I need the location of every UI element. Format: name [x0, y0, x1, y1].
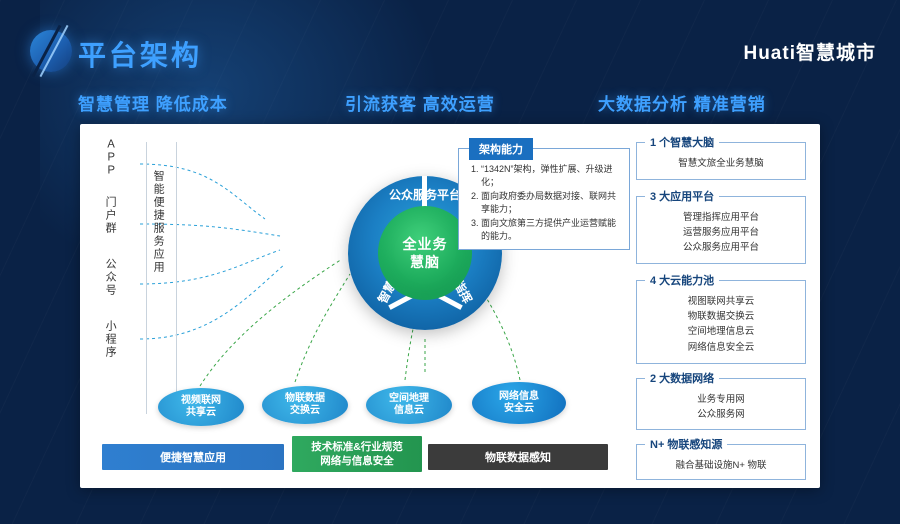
bottom-bar-standards-line1: 技术标准&行业规范 — [311, 440, 403, 454]
architecture-capability-box: 架构能力 “1342N”架构，弹性扩展、升级进化； 面向政府委办局数据对接、联网… — [458, 148, 630, 250]
right-box-sensing-line1: 融合基础设施N+ 物联 — [643, 458, 799, 473]
slide-background: 平台架构 Huati智慧城市 智慧管理 降低成本 引流获客 高效运营 大数据分析… — [0, 0, 900, 524]
right-box-clouds-title: 4 大云能力池 — [645, 272, 719, 288]
slogan-3: 大数据分析 精准营销 — [598, 90, 766, 115]
cloud-node-network-security-line2: 安全云 — [499, 403, 539, 416]
smart-service-app-label: 智能便捷服务应用 — [152, 170, 164, 274]
architecture-capability-title: 架构能力 — [469, 138, 533, 160]
architecture-card: ＡＰＰ 门户群 公众号 小程序 智能便捷服务应用 公众服务平台 智慧运营服务 智… — [80, 124, 820, 488]
right-box-platforms-line1: 管理指挥应用平台 — [643, 210, 799, 225]
brand-name-en: Huati — [743, 43, 796, 64]
slogan-1: 智慧管理 降低成本 — [78, 90, 228, 115]
right-box-networks-line1: 业务专用网 — [643, 392, 799, 407]
cloud-node-iot-data: 物联数据 交换云 — [262, 386, 348, 424]
channel-app-label: ＡＰＰ — [104, 138, 116, 177]
right-box-platforms-line2: 运营服务应用平台 — [643, 225, 799, 240]
cloud-node-video-line2: 共享云 — [181, 407, 221, 420]
divider-right — [176, 142, 177, 414]
core-label-line2: 慧脑 — [410, 253, 440, 271]
right-box-brain-title: 1 个智慧大脑 — [645, 134, 719, 150]
right-box-clouds-line1: 视图联网共享云 — [643, 294, 799, 309]
right-box-sensing: N+ 物联感知源 融合基础设施N+ 物联 — [636, 444, 806, 480]
architecture-capability-item-1: “1342N”架构，弹性扩展、升级进化； — [481, 163, 621, 189]
cloud-node-video: 视频联网 共享云 — [158, 388, 244, 426]
bottom-bar-standards: 技术标准&行业规范 网络与信息安全 — [292, 436, 422, 472]
left-channel-column: ＡＰＰ 门户群 公众号 小程序 — [88, 134, 144, 454]
page-title: 平台架构 — [78, 34, 202, 74]
slogan-2: 引流获客 高效运营 — [345, 90, 495, 115]
right-box-networks-line2: 公众服务网 — [643, 407, 799, 422]
divider-left — [146, 142, 147, 414]
cloud-node-geo-info-line2: 信息云 — [389, 405, 429, 418]
cloud-node-geo-info: 空间地理 信息云 — [366, 386, 452, 424]
architecture-capability-item-2: 面向政府委办局数据对接、联网共享能力； — [481, 190, 621, 216]
core-label-line1: 全业务 — [403, 235, 448, 253]
right-box-clouds-line2: 物联数据交换云 — [643, 309, 799, 324]
right-box-brain: 1 个智慧大脑 智慧文旅全业务慧脑 — [636, 142, 806, 180]
cloud-node-iot-data-line1: 物联数据 — [285, 393, 325, 406]
architecture-graphic: ＡＰＰ 门户群 公众号 小程序 智能便捷服务应用 公众服务平台 智慧运营服务 智… — [80, 124, 820, 488]
cloud-node-video-line1: 视频联网 — [181, 395, 221, 408]
channel-miniprogram-label: 小程序 — [104, 320, 116, 359]
cloud-node-iot-data-line2: 交换云 — [285, 405, 325, 418]
channel-official-account-label: 公众号 — [104, 258, 116, 297]
cloud-node-geo-info-line1: 空间地理 — [389, 393, 429, 406]
bottom-bar-standards-line2: 网络与信息安全 — [320, 454, 394, 468]
channel-portal-label: 门户群 — [104, 196, 116, 235]
brand-name-cn: 智慧城市 — [796, 43, 876, 64]
right-box-platforms: 3 大应用平台 管理指挥应用平台 运营服务应用平台 公众服务应用平台 — [636, 196, 806, 264]
right-box-brain-line1: 智慧文旅全业务慧脑 — [643, 156, 799, 171]
right-box-networks-title: 2 大数据网络 — [645, 370, 719, 386]
right-box-clouds-line4: 网络信息安全云 — [643, 340, 799, 355]
right-box-clouds: 4 大云能力池 视图联网共享云 物联数据交换云 空间地理信息云 网络信息安全云 — [636, 280, 806, 364]
architecture-capability-item-3: 面向文旅第三方提供产业运营赋能的能力。 — [481, 217, 621, 243]
cloud-node-network-security-line1: 网络信息 — [499, 391, 539, 404]
cloud-node-network-security: 网络信息 安全云 — [472, 382, 566, 424]
right-box-sensing-title: N+ 物联感知源 — [645, 436, 727, 452]
bottom-bar-applications: 便捷智慧应用 — [102, 444, 284, 470]
right-box-platforms-title: 3 大应用平台 — [645, 188, 719, 204]
right-box-networks: 2 大数据网络 业务专用网 公众服务网 — [636, 378, 806, 430]
brand-logo: Huati智慧城市 — [743, 38, 876, 65]
right-box-clouds-line3: 空间地理信息云 — [643, 324, 799, 339]
right-box-platforms-line3: 公众服务应用平台 — [643, 240, 799, 255]
bottom-bar-iot-sensing: 物联数据感知 — [428, 444, 608, 470]
sphere-logo-icon — [24, 24, 78, 78]
